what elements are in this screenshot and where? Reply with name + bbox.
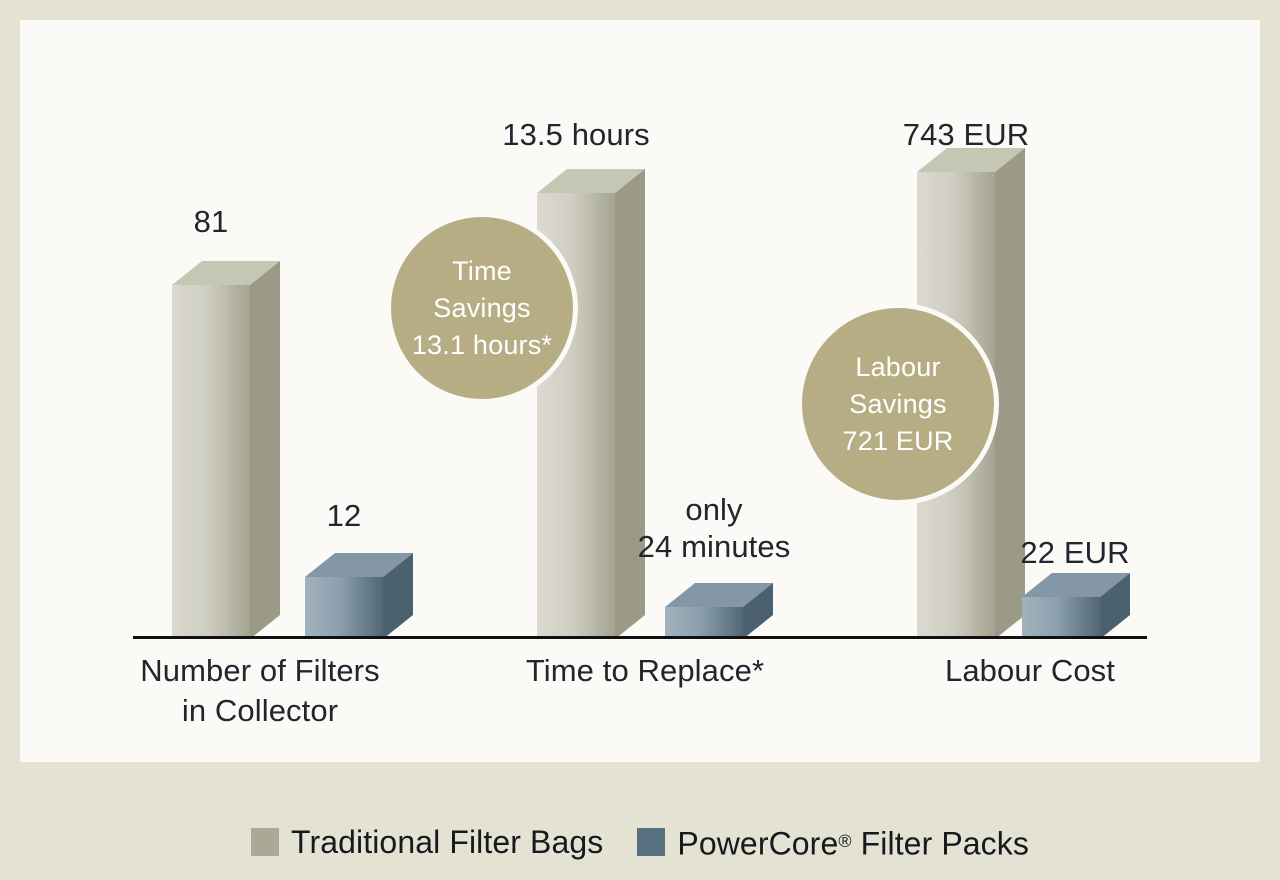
bar-powercore-filters	[305, 553, 383, 639]
value-label-powercore-filters: 12	[304, 497, 384, 534]
category-label-filters: Number of Filters in Collector	[140, 651, 380, 731]
bar-powercore-cost	[1022, 573, 1100, 639]
legend-swatch-traditional	[251, 828, 279, 856]
bar-powercore-time-shape	[665, 583, 773, 639]
legend-item-traditional: Traditional Filter Bags	[251, 825, 603, 859]
axis-baseline	[133, 636, 1147, 639]
plot-area: 81 12 Number of Filters in Collector	[20, 20, 1260, 762]
bar-traditional-time-shape	[537, 169, 645, 639]
value-label-traditional-filters: 81	[171, 203, 251, 240]
category-label-cost: Labour Cost	[910, 651, 1150, 691]
bar-powercore-filters-shape	[305, 553, 413, 639]
value-label-traditional-time: 13.5 hours	[476, 116, 676, 153]
registered-mark-icon: ®	[838, 831, 851, 851]
value-label-powercore-time: only 24 minutes	[624, 491, 804, 565]
bar-traditional-filters	[172, 261, 250, 639]
category-label-time: Time to Replace*	[515, 651, 775, 691]
legend-item-powercore: PowerCore® Filter Packs	[637, 824, 1029, 861]
legend-swatch-powercore	[637, 828, 665, 856]
bar-powercore-time	[665, 583, 743, 639]
value-label-powercore-cost: 22 EUR	[990, 534, 1160, 571]
legend-label-traditional: Traditional Filter Bags	[291, 825, 603, 859]
legend-label-powercore: PowerCore® Filter Packs	[677, 824, 1029, 861]
legend-label-powercore-suffix: Filter Packs	[852, 826, 1029, 862]
callout-time-savings: Time Savings 13.1 hours*	[386, 212, 578, 404]
chart-legend: Traditional Filter Bags PowerCore® Filte…	[0, 824, 1280, 861]
callout-labour-savings: Labour Savings 721 EUR	[797, 303, 999, 505]
bar-powercore-cost-shape	[1022, 573, 1130, 639]
value-label-traditional-cost: 743 EUR	[876, 116, 1056, 153]
bar-traditional-filters-shape	[172, 261, 280, 639]
chart-panel: 81 12 Number of Filters in Collector	[20, 20, 1260, 762]
legend-label-powercore-name: PowerCore	[677, 826, 838, 862]
